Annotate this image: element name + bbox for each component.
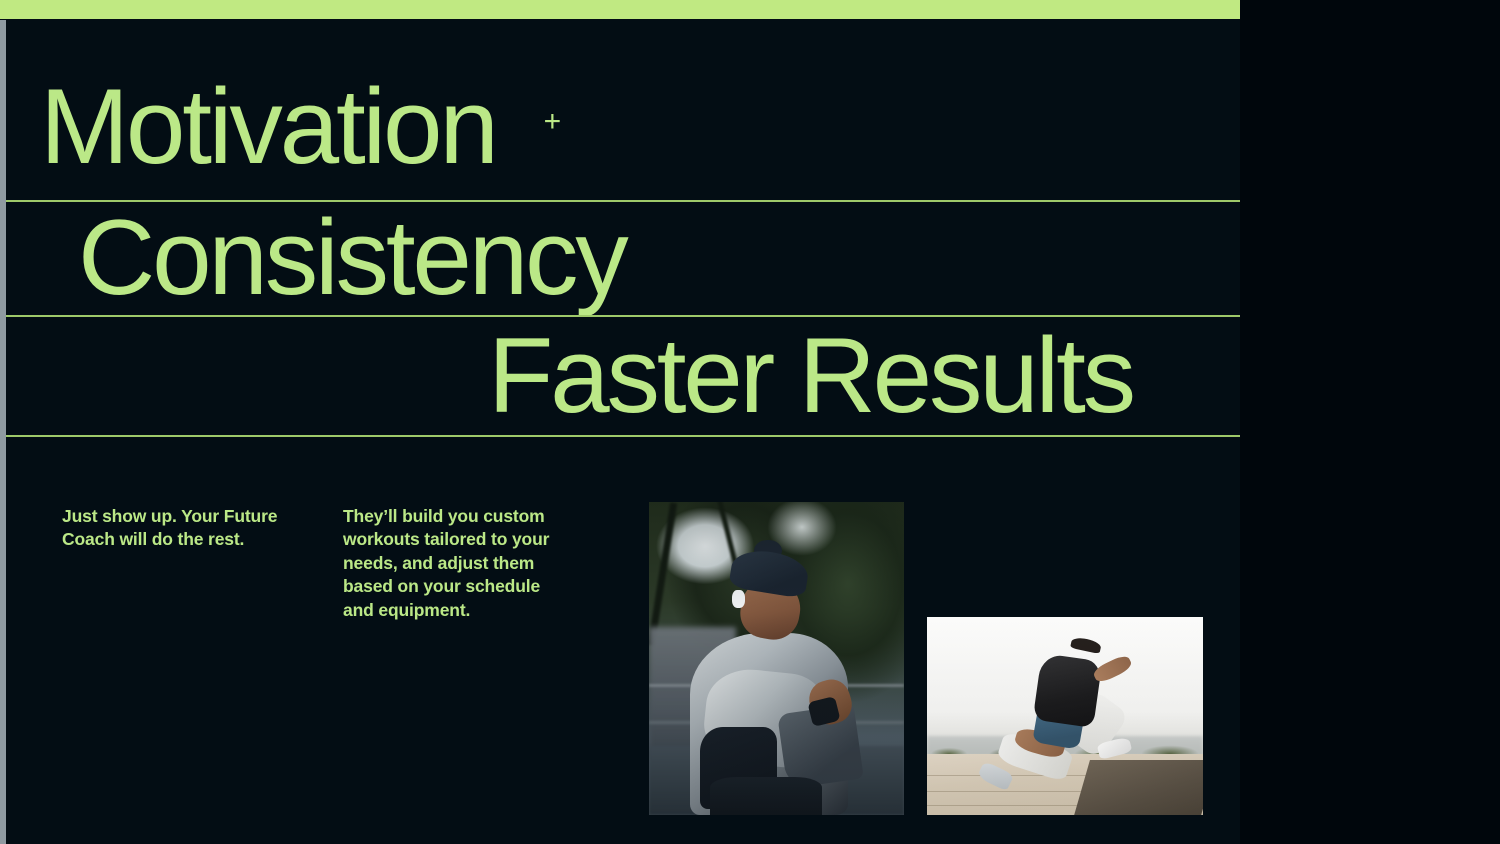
headline-line-motivation: Motivation xyxy=(40,76,496,178)
headline-row-faster-results: Faster Results xyxy=(0,315,1240,437)
headline-line-faster-results: Faster Results xyxy=(488,325,1133,427)
page-scrollbar-thumb[interactable] xyxy=(0,20,6,844)
plus-icon: + xyxy=(544,107,562,137)
photo-runner-watch-vignette xyxy=(649,502,904,815)
page-content-column: Motivation + Consistency Faster Results xyxy=(0,0,1240,844)
copy-block-intro: Just show up. Your Future Coach will do … xyxy=(62,505,302,552)
top-accent-bar xyxy=(0,0,1240,19)
divider-rule-top xyxy=(0,200,1240,202)
headline-row-motivation: Motivation + xyxy=(0,19,1240,200)
divider-rule-bottom xyxy=(0,435,1240,437)
photo-sprinter-vignette xyxy=(927,617,1203,815)
headline-stack: Motivation + Consistency Faster Results xyxy=(0,19,1240,437)
screen-root: Motivation + Consistency Faster Results xyxy=(0,0,1500,844)
divider-rule-middle xyxy=(0,315,1240,317)
page-scrollbar-track[interactable] xyxy=(0,20,6,844)
photo-runner-watch xyxy=(649,502,904,815)
headline-line-consistency: Consistency xyxy=(78,207,626,309)
headline-row-consistency: Consistency xyxy=(0,200,1240,315)
copy-block-description: They’ll build you custom workouts tailor… xyxy=(343,505,575,622)
photo-sprinter xyxy=(927,617,1203,815)
